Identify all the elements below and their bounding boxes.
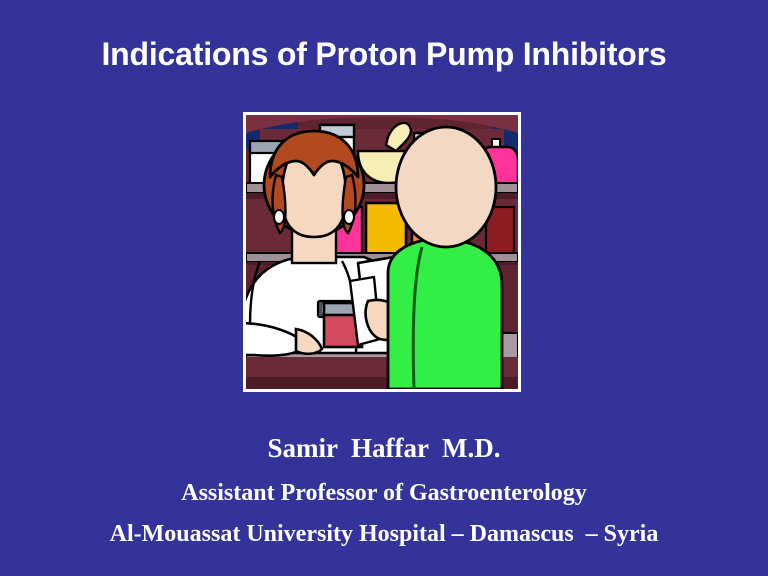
pharmacy-clipart-frame bbox=[243, 112, 521, 392]
pharmacy-scene-illustration bbox=[246, 115, 518, 389]
pharmacy-scene-svg bbox=[246, 115, 518, 389]
earring-left bbox=[274, 210, 284, 224]
presenter-affiliation: Al-Mouassat University Hospital – Damasc… bbox=[0, 519, 768, 549]
customer-head bbox=[396, 127, 496, 247]
presenter-name: Samir Haffar M.D. bbox=[0, 432, 768, 464]
slide-title: Indications of Proton Pump Inhibitors bbox=[0, 34, 768, 74]
presenter-role: Assistant Professor of Gastroenterology bbox=[0, 478, 768, 508]
earring-right bbox=[344, 210, 354, 224]
presentation-slide: Indications of Proton Pump Inhibitors bbox=[0, 0, 768, 576]
customer-shirt bbox=[388, 239, 502, 389]
